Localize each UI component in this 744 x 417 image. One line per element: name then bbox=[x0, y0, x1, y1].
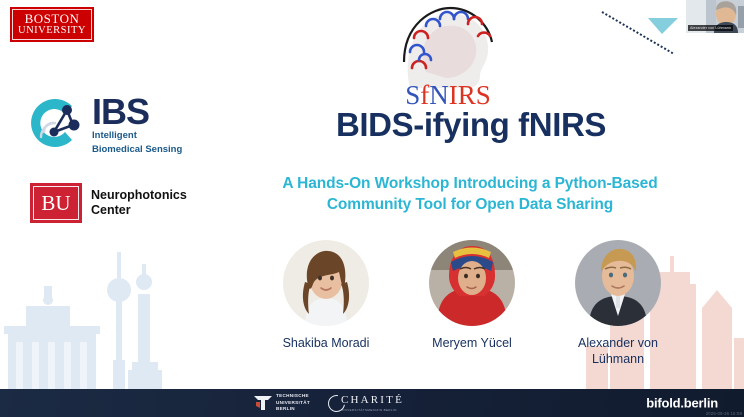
avatar bbox=[575, 240, 661, 326]
presenter-name: Meryem Yücel bbox=[408, 336, 536, 352]
boston-university-logo: BOSTON UNIVERSITY bbox=[10, 7, 94, 42]
mouse-cursor bbox=[600, 10, 692, 61]
recording-timestamp: 2025-09-26 15:08 bbox=[706, 411, 742, 416]
presenter-name: Alexander von Lühmann bbox=[554, 336, 682, 367]
sfnirs-logo: SfNIRS bbox=[388, 2, 508, 114]
charite-logo: CHARITÉ UNIVERSITÄTSMEDIZIN BERLIN bbox=[328, 395, 404, 412]
webcam-overlay[interactable]: Alexander von Lühmann bbox=[686, 0, 744, 33]
presenter-name: Shakiba Moradi bbox=[262, 336, 390, 352]
presenter-list: Shakiba Moradi Mery bbox=[262, 240, 682, 367]
tu-berlin-line2: UNIVERSITÄT bbox=[276, 400, 310, 407]
webcam-participant-label: Alexander von Lühmann bbox=[688, 25, 733, 31]
bu-mark-icon: BU bbox=[30, 183, 82, 223]
page-title: BIDS-ifying fNIRS bbox=[236, 107, 706, 143]
bu-logo-line1: BOSTON bbox=[25, 12, 80, 25]
avatar bbox=[283, 240, 369, 326]
neurophotonics-line2: Center bbox=[91, 203, 187, 218]
avatar bbox=[429, 240, 515, 326]
neurophotonics-center-logo: BU Neurophotonics Center bbox=[30, 183, 187, 223]
ibs-tagline-line1: Intelligent bbox=[92, 130, 182, 141]
page-subtitle: A Hands-On Workshop Introducing a Python… bbox=[258, 174, 682, 216]
neurophotonics-line1: Neurophotonics bbox=[91, 188, 187, 203]
charite-name: CHARITÉ bbox=[341, 395, 404, 406]
charite-subtitle: UNIVERSITÄTSMEDIZIN BERLIN bbox=[341, 408, 404, 412]
tu-berlin-mark-icon bbox=[254, 396, 272, 410]
tu-berlin-line3: BERLIN bbox=[276, 406, 310, 413]
bifold-wordmark: bifold.berlin bbox=[646, 396, 718, 411]
tu-berlin-line1: TECHNISCHE bbox=[276, 393, 310, 400]
presenter-item: Shakiba Moradi bbox=[262, 240, 390, 367]
tu-berlin-logo: TECHNISCHE UNIVERSITÄT BERLIN bbox=[254, 393, 310, 413]
bu-mark-text: BU bbox=[33, 186, 79, 220]
ibs-mark-icon bbox=[24, 92, 86, 159]
ibs-acronym: IBS bbox=[92, 96, 182, 128]
berlin-skyline-graphic bbox=[0, 250, 300, 390]
presentation-slide: BOSTON UNIVERSITY bbox=[0, 0, 744, 417]
ibs-tagline-line2: Biomedical Sensing bbox=[92, 144, 182, 155]
bu-logo-line2: UNIVERSITY bbox=[18, 26, 86, 37]
footer-bar: TECHNISCHE UNIVERSITÄT BERLIN CHARITÉ UN… bbox=[0, 389, 744, 417]
presenter-item: Alexander von Lühmann bbox=[554, 240, 682, 367]
ibs-logo: IBS Intelligent Biomedical Sensing bbox=[24, 92, 182, 159]
presenter-item: Meryem Yücel bbox=[408, 240, 536, 367]
